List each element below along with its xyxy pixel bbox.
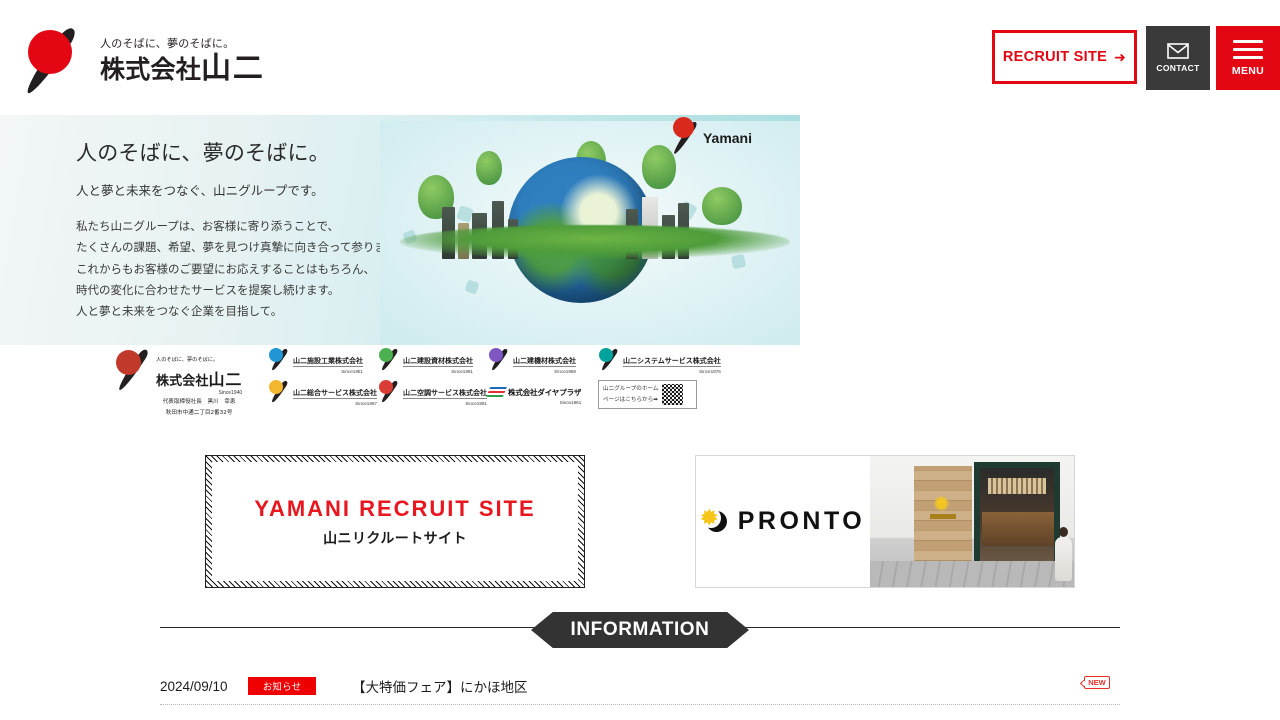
pronto-wordmark: PRONTO [738, 507, 866, 536]
yamani-logo-mark-icon [488, 348, 510, 370]
group-main-company[interactable]: 人のそばに、夢のそばに。 株式会社山二 Since1940 代表取締役社長 黒川… [113, 348, 268, 422]
hamburger-icon [1233, 40, 1263, 59]
qr-text-line-1: 山二グループのホーム [603, 384, 658, 394]
information-heading-row: INFORMATION [0, 606, 1280, 650]
group-main-since: Since1940 [156, 390, 242, 396]
diya-plaza-prefix: 株式会社 [508, 388, 537, 397]
group-main-address-2: 秋田市中通二丁目2番32号 [156, 409, 242, 418]
logo-company-main: 山二 [201, 51, 265, 86]
hero-body-line: 人と夢と未来をつなぐ企業を目指して。 [76, 301, 420, 322]
group-companies-strip: 人のそばに、夢のそばに。 株式会社山二 Since1940 代表取締役社長 黒川… [0, 345, 1280, 425]
yamani-logo-mark-icon [378, 348, 400, 370]
group-qr-box[interactable]: 山二グループのホーム ページはこちらから➡ [598, 380, 697, 409]
qr-text-line-2: ページはこちらから➡ [603, 395, 658, 405]
recruit-banner-title-ja: 山ニリクルートサイト [323, 528, 467, 548]
yamani-logo-mark-icon [113, 348, 153, 392]
menu-button[interactable]: MENU [1216, 26, 1280, 90]
group-main-tagline: 人のそばに、夢のそばに。 [156, 357, 218, 363]
yamani-logo-mark-icon [598, 348, 620, 370]
menu-label: MENU [1232, 65, 1264, 77]
yamani-logo-mark-icon [16, 22, 94, 94]
pronto-banner[interactable]: PRONTO [695, 455, 1075, 588]
group-company-since: Since1991 [403, 401, 487, 406]
hero-copy: 人のそばに、夢のそばに。 人と夢と未来をつなぐ、山ニグループです。 私たち山ニグ… [76, 137, 420, 322]
group-company-since: Since1967 [293, 401, 377, 406]
site-header: 人のそばに、夢のそばに。 株式会社山二 RECRUIT SITE ➜ CONTA… [0, 0, 1280, 115]
group-company-name: 山二建設資材株式会社 [403, 357, 473, 367]
header-actions: RECRUIT SITE ➜ CONTACT MENU [992, 26, 1280, 90]
yamani-logo-mark-icon [378, 380, 400, 402]
news-title[interactable]: 【大特価フェア】にかほ地区 [352, 676, 1084, 696]
recruit-banner-title-en: YAMANI RECRUIT SITE [254, 496, 535, 522]
contact-button[interactable]: CONTACT [1146, 26, 1210, 90]
group-company-item[interactable]: 山二システムサービス株式会社 Since1976 [598, 348, 697, 374]
group-main-prefix: 株式会社 [156, 374, 209, 389]
group-main-address-1: 代表取締役社長 黒川 幸恵 [156, 398, 242, 407]
news-category-badge: お知らせ [248, 677, 316, 695]
group-column-4: 山二建機材株式会社 Since1968 株式会社ダイヤプラザ Since1961 [488, 348, 598, 422]
homepage: 人のそばに、夢のそばに。 株式会社山二 RECRUIT SITE ➜ CONTA… [0, 0, 1280, 720]
diya-plaza-since: Since1961 [508, 400, 581, 405]
diya-plaza-icon [486, 387, 507, 397]
diya-plaza-name: 株式会社ダイヤプラザ [508, 388, 581, 397]
group-company-item[interactable]: 山二建設資材株式会社 Since1981 [378, 348, 488, 374]
information-section: INFORMATION 2024/09/10 お知らせ 【大特価フェア】にかほ地… [0, 606, 1280, 720]
hero-watermark-logo: Yamani [667, 121, 752, 155]
hero-slider: 人のそばに、夢のそばに。 人と夢と未来をつなぐ、山ニグループです。 私たち山ニグ… [0, 115, 1280, 345]
hero-slide[interactable]: 人のそばに、夢のそばに。 人と夢と未来をつなぐ、山ニグループです。 私たち山ニグ… [0, 115, 800, 345]
news-list: 2024/09/10 お知らせ 【大特価フェア】にかほ地区 NEW [160, 668, 1120, 705]
news-date: 2024/09/10 [160, 679, 242, 694]
hero-body-line: 時代の変化に合わせたサービスを提案し続けます。 [76, 280, 420, 301]
envelope-icon [1167, 43, 1189, 59]
pronto-sun-moon-icon [701, 509, 729, 535]
group-column-5: 山二システムサービス株式会社 Since1976 山二グループのホーム ページは… [598, 348, 697, 422]
group-company-since: Since1968 [513, 369, 576, 374]
group-main-name: 株式会社山二 [156, 366, 242, 390]
group-company-item[interactable]: 山二空調サービス株式会社 Since1991 [378, 380, 488, 406]
group-company-name: 山二建機材株式会社 [513, 357, 576, 367]
hero-body: 私たち山ニグループは、お客様に寄り添うことで、 たくさんの課題、希望、夢を見つけ… [76, 216, 420, 322]
diya-plaza-label: ダイヤプラザ [537, 388, 581, 397]
hero-title: 人のそばに、夢のそばに。 [76, 137, 420, 167]
pronto-storefront-photo [870, 456, 1074, 587]
group-column-2: 山二施設工業株式会社 Since1951 山二総合サービス株式会社 Since1… [268, 348, 378, 422]
hero-watermark-text: Yamani [703, 130, 752, 146]
logo-company-prefix: 株式会社 [100, 55, 201, 84]
group-company-item[interactable]: 山二建機材株式会社 Since1968 [488, 348, 598, 374]
arrow-right-icon: ➜ [1114, 50, 1126, 64]
group-company-item[interactable]: 山二総合サービス株式会社 Since1967 [268, 380, 378, 406]
contact-label: CONTACT [1156, 63, 1199, 73]
diya-plaza-item[interactable]: 株式会社ダイヤプラザ Since1961 [488, 380, 598, 405]
yamani-logo-mark-icon [667, 121, 701, 155]
news-row[interactable]: 2024/09/10 お知らせ 【大特価フェア】にかほ地区 NEW [160, 668, 1120, 705]
hero-body-line: 私たち山ニグループは、お客様に寄り添うことで、 [76, 216, 420, 237]
recruit-site-button[interactable]: RECRUIT SITE ➜ [992, 30, 1137, 84]
yamani-logo-mark-icon [268, 380, 290, 402]
group-main-kanji: 山二 [209, 370, 243, 389]
yamani-logo-mark-icon [268, 348, 290, 370]
group-company-since: Since1981 [403, 369, 473, 374]
group-company-since: Since1951 [293, 369, 363, 374]
banner-row: YAMANI RECRUIT SITE 山ニリクルートサイト PRONTO [0, 455, 1280, 590]
group-company-name: 山二総合サービス株式会社 [293, 389, 377, 399]
group-column-3: 山二建設資材株式会社 Since1981 山二空調サービス株式会社 Since1… [378, 348, 488, 422]
logo-tagline: 人のそばに、夢のそばに。 [100, 35, 265, 51]
group-company-name: 山二システムサービス株式会社 [623, 357, 721, 367]
group-company-name: 山二空調サービス株式会社 [403, 389, 487, 399]
hero-body-line: これからもお客様のご要望にお応えすることはもちろん、 [76, 259, 420, 280]
qr-code-icon [662, 384, 683, 405]
news-new-badge: NEW [1084, 676, 1110, 689]
recruit-site-banner[interactable]: YAMANI RECRUIT SITE 山ニリクルートサイト [205, 455, 585, 588]
recruit-site-label: RECRUIT SITE [1003, 49, 1107, 65]
hero-body-line: たくさんの課題、希望、夢を見つけ真摯に向き合って参りました。 [76, 237, 420, 258]
site-logo[interactable]: 人のそばに、夢のそばに。 株式会社山二 [16, 22, 265, 94]
logo-company-name: 株式会社山二 [100, 53, 265, 85]
group-company-since: Since1976 [623, 369, 721, 374]
hero-lead: 人と夢と未来をつなぐ、山ニグループです。 [76, 180, 420, 199]
group-company-item[interactable]: 山二施設工業株式会社 Since1951 [268, 348, 378, 374]
information-heading-badge: INFORMATION [531, 612, 749, 648]
information-heading-label: INFORMATION [571, 619, 710, 641]
group-company-name: 山二施設工業株式会社 [293, 357, 363, 367]
